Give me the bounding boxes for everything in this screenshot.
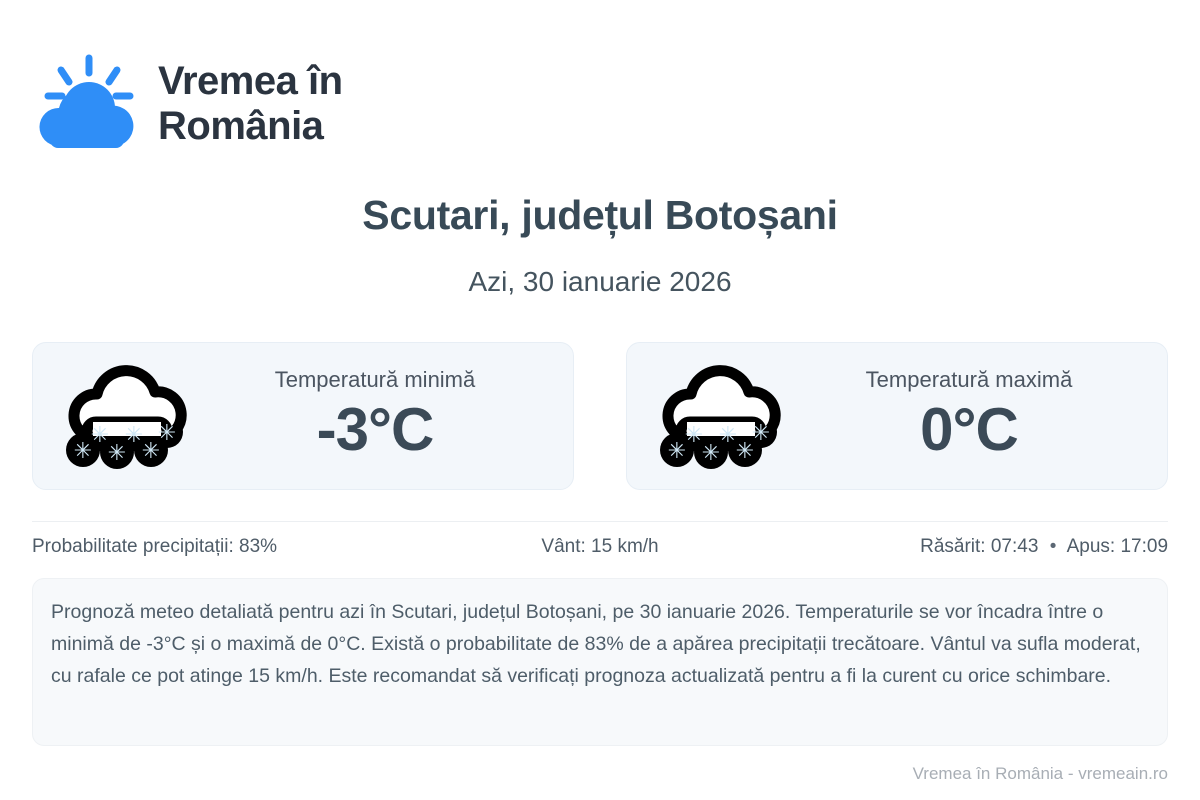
sunset-value: Apus: 17:09 [1067, 536, 1168, 557]
svg-text:✳: ✳ [668, 439, 686, 464]
svg-text:✳: ✳ [74, 439, 92, 464]
sun-times-stat: Răsărit: 07:43 • Apus: 17:09 [789, 536, 1168, 558]
min-temperature-card: ✳ ✳ ✳ ✳ ✳ ✳ Temperatură minimă -3°C [32, 342, 574, 490]
site-brand[interactable]: Vremea în România [32, 52, 343, 156]
svg-text:✳: ✳ [702, 441, 720, 466]
max-temperature-value: 0°C [785, 395, 1153, 464]
weather-stats-row: Probabilitate precipitații: 83% Vânt: 15… [32, 536, 1168, 558]
svg-text:✳: ✳ [142, 439, 160, 464]
snow-cloud-icon: ✳ ✳ ✳ ✳ ✳ ✳ [59, 360, 187, 472]
min-temperature-body: Temperatură minimă -3°C [187, 368, 559, 463]
forecast-description-text: Prognoză meteo detaliată pentru azi în S… [51, 597, 1141, 692]
forecast-description-card: Prognoză meteo detaliată pentru azi în S… [32, 578, 1168, 746]
brand-name: Vremea în România [158, 59, 343, 149]
snow-cloud-icon: ✳ ✳ ✳ ✳ ✳ ✳ [653, 360, 781, 472]
svg-text:✳: ✳ [158, 421, 176, 446]
max-temperature-card: ✳ ✳ ✳ ✳ ✳ ✳ Temperatură maximă 0°C [626, 342, 1168, 490]
svg-text:✳: ✳ [91, 423, 109, 448]
svg-text:✳: ✳ [719, 423, 737, 448]
wind-stat: Vânt: 15 km/h [411, 536, 790, 558]
sun-times-separator: • [1044, 536, 1063, 557]
max-temperature-label: Temperatură maximă [785, 368, 1153, 392]
footer-credit: Vremea în România - vremeain.ro [913, 764, 1168, 784]
precipitation-stat: Probabilitate precipitații: 83% [32, 536, 411, 558]
stats-divider [32, 521, 1168, 522]
min-temperature-value: -3°C [191, 395, 559, 464]
min-temperature-label: Temperatură minimă [191, 368, 559, 392]
svg-text:✳: ✳ [736, 439, 754, 464]
svg-text:✳: ✳ [685, 423, 703, 448]
svg-text:✳: ✳ [752, 421, 770, 446]
sunrise-value: Răsărit: 07:43 [920, 536, 1038, 557]
sun-behind-cloud-icon [32, 52, 142, 156]
temperature-cards: ✳ ✳ ✳ ✳ ✳ ✳ Temperatură minimă -3°C [32, 342, 1168, 490]
max-temperature-body: Temperatură maximă 0°C [781, 368, 1153, 463]
page-date-subtitle: Azi, 30 ianuarie 2026 [0, 266, 1200, 298]
svg-text:✳: ✳ [125, 423, 143, 448]
weather-page: Vremea în România Scutari, județul Botoș… [0, 0, 1200, 800]
svg-text:✳: ✳ [108, 441, 126, 466]
page-title: Scutari, județul Botoșani [0, 192, 1200, 239]
